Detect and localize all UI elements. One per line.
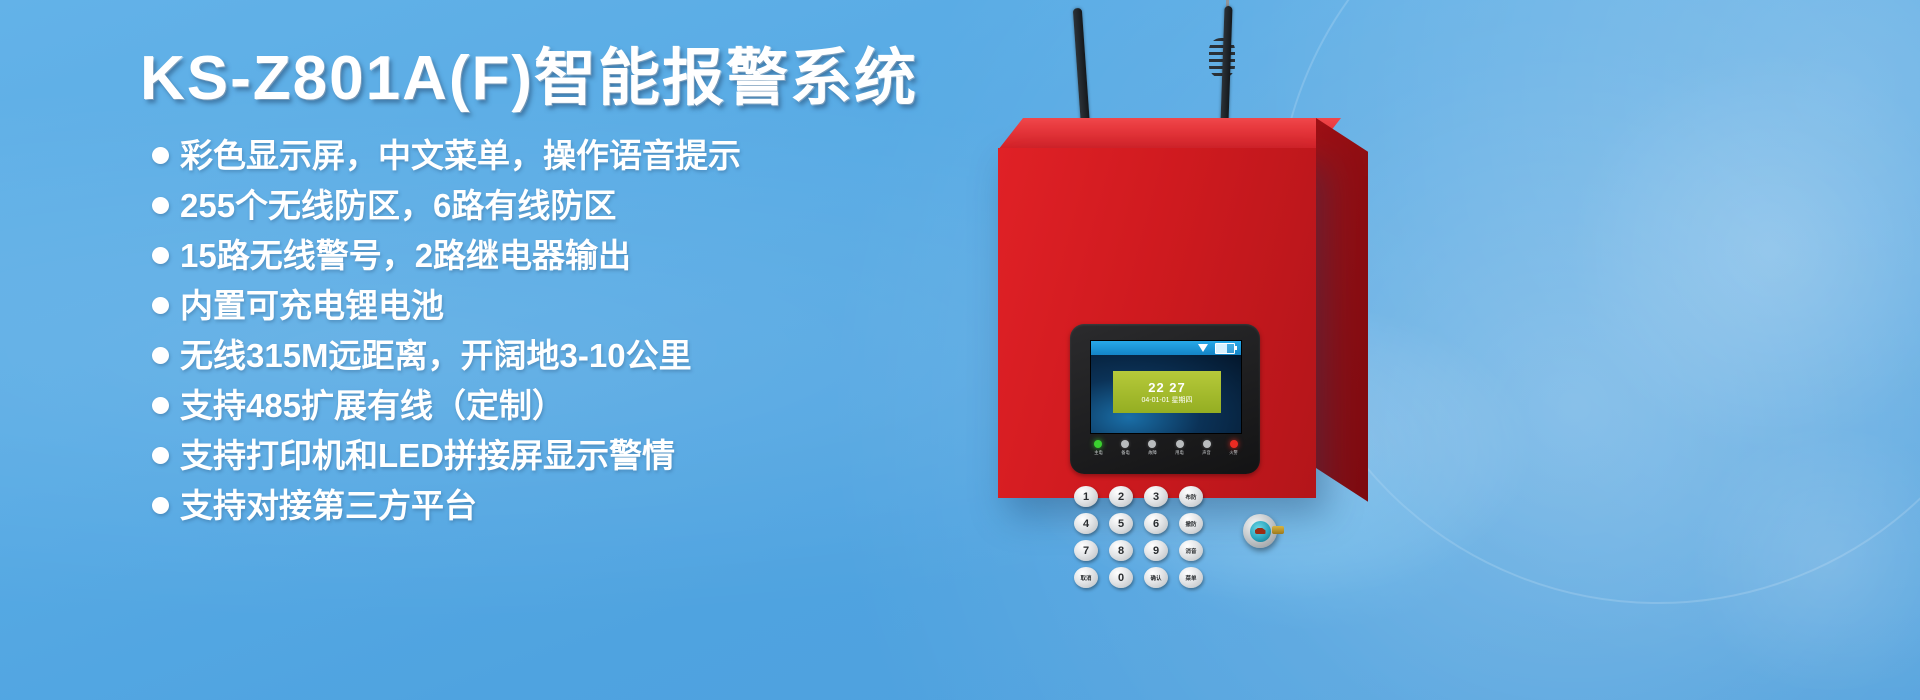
list-item: 彩色显示屏，中文菜单，操作语音提示	[152, 139, 980, 172]
keypad-key-4[interactable]: 4	[1074, 513, 1098, 534]
feature-text: 彩色显示屏，中文菜单，操作语音提示	[180, 139, 741, 172]
led-label: 火警	[1230, 450, 1239, 456]
keypad-key-disarm[interactable]: 撤防	[1179, 513, 1203, 534]
keypad-key-6[interactable]: 6	[1144, 513, 1168, 534]
lcd-date: 04-01-01 星期四	[1142, 397, 1193, 404]
keypad-key-mute[interactable]: 消音	[1179, 540, 1203, 561]
enclosure-top	[998, 118, 1341, 150]
keypad-key-5[interactable]: 5	[1109, 513, 1133, 534]
keypad-key-7[interactable]: 7	[1074, 540, 1098, 561]
feature-text: 支持485扩展有线（定制）	[180, 389, 565, 422]
led-indicator: 主电	[1086, 440, 1110, 456]
list-item: 支持打印机和LED拼接屏显示警情	[152, 439, 980, 472]
led-label: 主电	[1094, 450, 1103, 456]
keypad-key-0[interactable]: 0	[1109, 567, 1133, 588]
key-lock-icon[interactable]	[1243, 514, 1277, 548]
bullet-icon	[152, 197, 169, 214]
list-item: 无线315M远距离，开阔地3-10公里	[152, 339, 980, 372]
list-item: 255个无线防区，6路有线防区	[152, 189, 980, 222]
bullet-icon	[152, 147, 169, 164]
led-indicator-row: 主电 备电 故障 甩电	[1086, 440, 1246, 456]
bullet-icon	[152, 297, 169, 314]
feature-text: 无线315M远距离，开阔地3-10公里	[180, 339, 692, 372]
keypad-key-menu[interactable]: 菜单	[1179, 567, 1203, 588]
keypad-key-arm[interactable]: 布防	[1179, 486, 1203, 507]
keypad-key-confirm[interactable]: 确认	[1144, 567, 1168, 588]
led-label: 故障	[1148, 450, 1157, 456]
bullet-icon	[152, 497, 169, 514]
led-light-icon	[1203, 440, 1211, 448]
lcd-display: 22 27 04-01-01 星期四	[1090, 340, 1242, 434]
enclosure-side	[1316, 118, 1368, 502]
lcd-status-bar	[1091, 341, 1241, 355]
led-indicator: 火警	[1222, 440, 1246, 456]
list-item: 支持485扩展有线（定制）	[152, 389, 980, 422]
list-item: 支持对接第三方平台	[152, 489, 980, 522]
control-panel: 22 27 04-01-01 星期四 主电 备电	[1070, 324, 1260, 474]
keypad[interactable]: 1 2 3 布防 4 5 6 撤防 7 8 9 消音 取消 0 确认 菜单	[1074, 486, 1206, 588]
feature-text: 支持打印机和LED拼接屏显示警情	[180, 439, 675, 472]
feature-list: 彩色显示屏，中文菜单，操作语音提示 255个无线防区，6路有线防区 15路无线警…	[152, 139, 980, 522]
keypad-key-3[interactable]: 3	[1144, 486, 1168, 507]
feature-text: 内置可充电锂电池	[180, 289, 444, 322]
led-indicator: 故障	[1140, 440, 1164, 456]
led-indicator: 甩电	[1168, 440, 1192, 456]
keypad-key-1[interactable]: 1	[1074, 486, 1098, 507]
page-title: KS-Z801A(F)智能报警系统	[140, 46, 980, 111]
led-light-icon	[1230, 440, 1238, 448]
lock-key-tab	[1272, 526, 1284, 534]
enclosure-front: 22 27 04-01-01 星期四 主电 备电	[998, 148, 1316, 498]
lcd-clock-card: 22 27 04-01-01 星期四	[1113, 371, 1221, 413]
led-label: 甩电	[1175, 450, 1184, 456]
lcd-time: 22 27	[1148, 381, 1186, 394]
signal-icon	[1198, 344, 1208, 352]
feature-text: 15路无线警号，2路继电器输出	[180, 239, 631, 272]
text-column: KS-Z801A(F)智能报警系统 彩色显示屏，中文菜单，操作语音提示 255个…	[140, 46, 980, 539]
keypad-key-2[interactable]: 2	[1109, 486, 1133, 507]
product-banner: KS-Z801A(F)智能报警系统 彩色显示屏，中文菜单，操作语音提示 255个…	[0, 0, 1920, 700]
led-indicator: 声音	[1195, 440, 1219, 456]
led-light-icon	[1094, 440, 1102, 448]
lock-core	[1250, 521, 1271, 542]
battery-icon	[1215, 343, 1235, 354]
list-item: 15路无线警号，2路继电器输出	[152, 239, 980, 272]
keypad-key-8[interactable]: 8	[1109, 540, 1133, 561]
feature-text: 255个无线防区，6路有线防区	[180, 189, 616, 222]
keypad-key-9[interactable]: 9	[1144, 540, 1168, 561]
led-light-icon	[1148, 440, 1156, 448]
led-label: 声音	[1202, 450, 1211, 456]
led-indicator: 备电	[1113, 440, 1137, 456]
led-light-icon	[1121, 440, 1129, 448]
lock-keyhole	[1255, 528, 1266, 534]
bullet-icon	[152, 347, 169, 364]
bullet-icon	[152, 447, 169, 464]
feature-text: 支持对接第三方平台	[180, 489, 477, 522]
led-label: 备电	[1121, 450, 1130, 456]
lcd-wallpaper: 22 27 04-01-01 星期四	[1091, 355, 1241, 433]
led-light-icon	[1176, 440, 1184, 448]
bullet-icon	[152, 397, 169, 414]
keypad-key-cancel[interactable]: 取消	[1074, 567, 1098, 588]
product-image: 22 27 04-01-01 星期四 主电 备电	[960, 0, 1920, 700]
bullet-icon	[152, 247, 169, 264]
list-item: 内置可充电锂电池	[152, 289, 980, 322]
